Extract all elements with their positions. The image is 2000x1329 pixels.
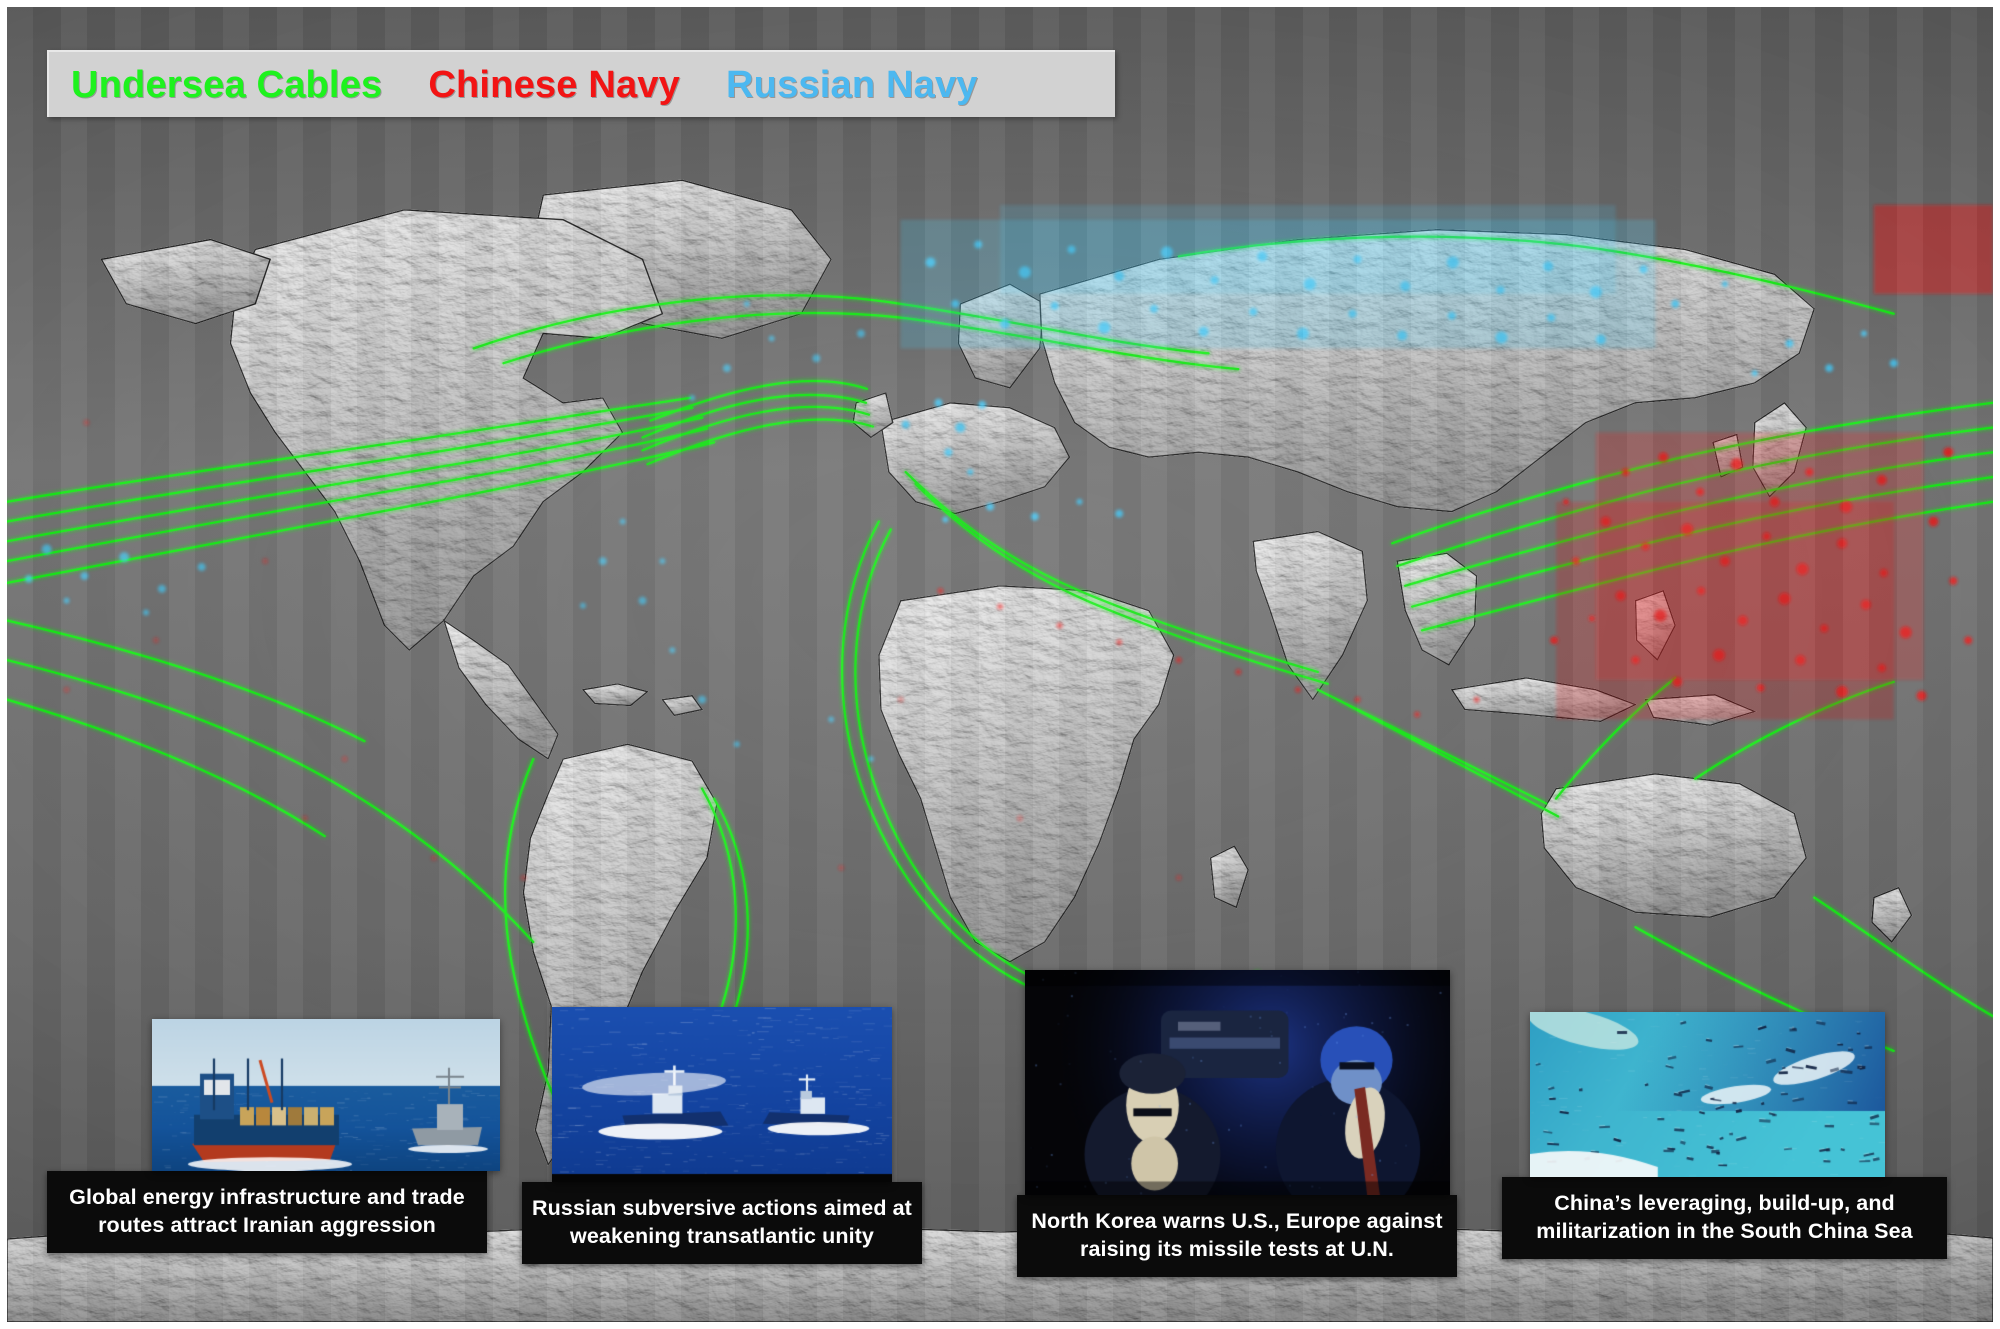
legend-russian-navy: Russian Navy xyxy=(726,66,978,104)
map-legend: Undersea Cables Chinese Navy Russian Nav… xyxy=(47,50,1115,117)
card-russia-caption: Russian subversive actions aimed at weak… xyxy=(522,1182,922,1264)
card-south-china-sea-caption: China’s leveraging, build-up, and milita… xyxy=(1502,1177,1947,1259)
legend-chinese-navy: Chinese Navy xyxy=(428,66,680,104)
lagoon-vessel-swarm-photo xyxy=(1530,1012,1885,1177)
night-figures-photo xyxy=(1025,970,1450,1195)
card-north-korea[interactable]: North Korea warns U.S., Europe against r… xyxy=(1017,970,1457,1277)
threat-map-infographic: Undersea Cables Chinese Navy Russian Nav… xyxy=(0,0,2000,1329)
card-iran-caption: Global energy infrastructure and trade r… xyxy=(47,1171,487,1253)
cargo-ship-and-warship-photo xyxy=(152,1019,500,1171)
two-warships-photo xyxy=(552,1007,892,1182)
legend-undersea-cables: Undersea Cables xyxy=(71,66,382,104)
card-south-china-sea[interactable]: China’s leveraging, build-up, and milita… xyxy=(1502,1012,1947,1259)
card-north-korea-caption: North Korea warns U.S., Europe against r… xyxy=(1017,1195,1457,1277)
card-russia[interactable]: Russian subversive actions aimed at weak… xyxy=(522,1007,922,1264)
card-iran[interactable]: Global energy infrastructure and trade r… xyxy=(47,1019,487,1253)
